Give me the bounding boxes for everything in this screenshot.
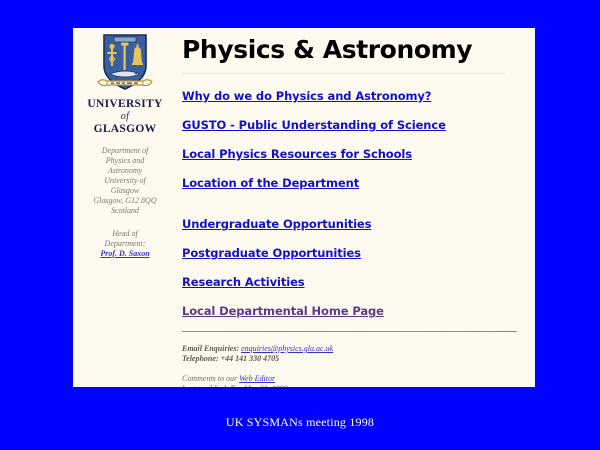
address-line: University of bbox=[73, 176, 177, 186]
link-local-physics-resources-for-schools[interactable]: Local Physics Resources for Schools bbox=[182, 147, 412, 161]
telephone-line: Telephone: +44 141 330 4705 bbox=[182, 354, 535, 364]
slide-background: { "theme": { "background_color": "#0000F… bbox=[0, 0, 600, 450]
address-line: Glasgow, G12 8QQ bbox=[73, 196, 177, 206]
comments-line: Comments to our Web Editor bbox=[182, 374, 535, 384]
address-line: Scotland bbox=[73, 206, 177, 216]
web-editor-link[interactable]: Web Editor bbox=[239, 374, 275, 383]
link-location-of-the-department[interactable]: Location of the Department bbox=[182, 176, 359, 190]
head-of-department-block: Head of Department: Prof. D. Saxon bbox=[73, 229, 177, 259]
primary-link-list: Why do we do Physics and Astronomy? GUST… bbox=[182, 87, 535, 192]
link-undergraduate-opportunities[interactable]: Undergraduate Opportunities bbox=[182, 217, 371, 231]
head-of-department-link[interactable]: Prof. D. Saxon bbox=[73, 249, 177, 259]
web-page-panel: UNIVERSITY of GLASGOW Department of Phys… bbox=[73, 28, 535, 387]
university-of-glasgow-crest-icon bbox=[96, 32, 154, 94]
head-of-department-label-line-2: Department: bbox=[73, 239, 177, 249]
footer-credits: Comments to our Web Editor Last modified… bbox=[182, 374, 535, 387]
list-item: Local Physics Resources for Schools bbox=[182, 145, 535, 163]
university-name-line-2: of bbox=[73, 111, 177, 122]
page-title: Physics & Astronomy bbox=[182, 35, 535, 64]
footer-divider bbox=[182, 331, 517, 332]
secondary-link-list: Undergraduate Opportunities Postgraduate… bbox=[182, 215, 535, 320]
address-line: Department of bbox=[73, 146, 177, 156]
address-line: Physics and bbox=[73, 156, 177, 166]
main-content-column: Physics & Astronomy Why do we do Physics… bbox=[177, 28, 535, 387]
list-item: Undergraduate Opportunities bbox=[182, 215, 535, 233]
email-address-link[interactable]: enquiries@physics.gla.ac.uk bbox=[241, 344, 333, 353]
list-item: GUSTO - Public Understanding of Science bbox=[182, 116, 535, 134]
email-enquiries-label: Email Enquiries: bbox=[182, 344, 241, 353]
crest-column: UNIVERSITY of GLASGOW Department of Phys… bbox=[73, 28, 177, 259]
department-address: Department of Physics and Astronomy Univ… bbox=[73, 146, 177, 216]
head-of-department-label-line-1: Head of bbox=[73, 229, 177, 239]
link-why-do-we-do-physics-and-astronomy[interactable]: Why do we do Physics and Astronomy? bbox=[182, 89, 431, 103]
footer-block: Email Enquiries: enquiries@physics.gla.a… bbox=[182, 344, 535, 387]
list-item: Research Activities bbox=[182, 273, 535, 291]
comments-label: Comments to our bbox=[182, 374, 239, 383]
title-divider bbox=[182, 73, 505, 74]
university-name-line-1: UNIVERSITY bbox=[73, 98, 177, 110]
list-item: Local Departmental Home Page bbox=[182, 302, 535, 320]
link-postgraduate-opportunities[interactable]: Postgraduate Opportunities bbox=[182, 246, 361, 260]
link-gusto-public-understanding-of-science[interactable]: GUSTO - Public Understanding of Science bbox=[182, 118, 446, 132]
slide-caption: UK SYSMANs meeting 1998 bbox=[0, 415, 600, 430]
list-item: Postgraduate Opportunities bbox=[182, 244, 535, 262]
link-local-departmental-home-page[interactable]: Local Departmental Home Page bbox=[182, 304, 384, 318]
address-line: Glasgow bbox=[73, 186, 177, 196]
address-line: Astronomy bbox=[73, 166, 177, 176]
email-enquiries-line: Email Enquiries: enquiries@physics.gla.a… bbox=[182, 344, 535, 354]
list-item: Location of the Department bbox=[182, 174, 535, 192]
university-name-line-3: GLASGOW bbox=[73, 123, 177, 135]
last-modified-line: Last modified: Tue Mar 31, 1998 bbox=[182, 384, 535, 387]
list-item: Why do we do Physics and Astronomy? bbox=[182, 87, 535, 105]
link-research-activities[interactable]: Research Activities bbox=[182, 275, 305, 289]
